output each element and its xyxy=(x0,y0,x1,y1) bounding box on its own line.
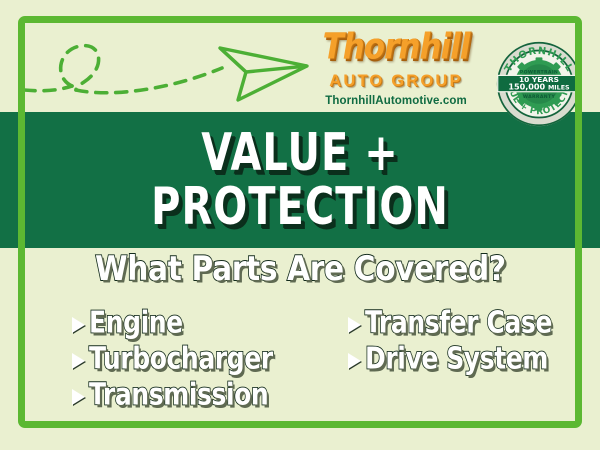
hero-line-1: VALUE + xyxy=(201,126,399,181)
hero-headline: VALUE + PROTECTION xyxy=(0,112,600,248)
seal-warranty-text: WARRANTY xyxy=(523,94,556,100)
subheading-region: What Parts Are Covered? xyxy=(0,252,600,284)
logo-wordmark: Thornhill xyxy=(316,30,476,65)
flight-path-decoration xyxy=(24,20,314,112)
list-item: Transmission xyxy=(72,378,334,411)
coverage-item-label: Turbocharger xyxy=(89,339,273,379)
coverage-lists: Engine Turbocharger Transmission Transfe… xyxy=(30,306,570,418)
list-item: Transfer Case xyxy=(348,306,600,339)
triangle-bullet-icon xyxy=(348,317,361,333)
triangle-bullet-icon xyxy=(348,353,361,369)
triangle-bullet-icon xyxy=(72,353,85,369)
coverage-item-label: Drive System xyxy=(365,339,548,379)
coverage-column-left: Engine Turbocharger Transmission xyxy=(30,306,334,418)
coverage-item-label: Transmission xyxy=(89,375,268,415)
header-region: Thornhill AUTO GROUP ThornhillAutomotive… xyxy=(18,16,582,112)
hero-line-2: PROTECTION xyxy=(151,180,449,235)
list-item: Drive System xyxy=(348,342,600,375)
list-item: Engine xyxy=(72,306,334,339)
triangle-bullet-icon xyxy=(72,389,85,405)
thornhill-logo: Thornhill AUTO GROUP ThornhillAutomotive… xyxy=(316,30,476,108)
triangle-bullet-icon xyxy=(72,317,85,333)
logo-website-url: ThornhillAutomotive.com xyxy=(316,95,476,108)
coverage-column-right: Transfer Case Drive System xyxy=(334,306,600,418)
logo-subtitle: AUTO GROUP xyxy=(316,72,476,90)
banner-canvas: Thornhill AUTO GROUP ThornhillAutomotive… xyxy=(0,0,600,450)
subheading-text: What Parts Are Covered? xyxy=(95,249,506,287)
list-item: Turbocharger xyxy=(72,342,334,375)
coverage-item-label: Transfer Case xyxy=(365,303,552,343)
coverage-item-label: Engine xyxy=(89,303,183,343)
